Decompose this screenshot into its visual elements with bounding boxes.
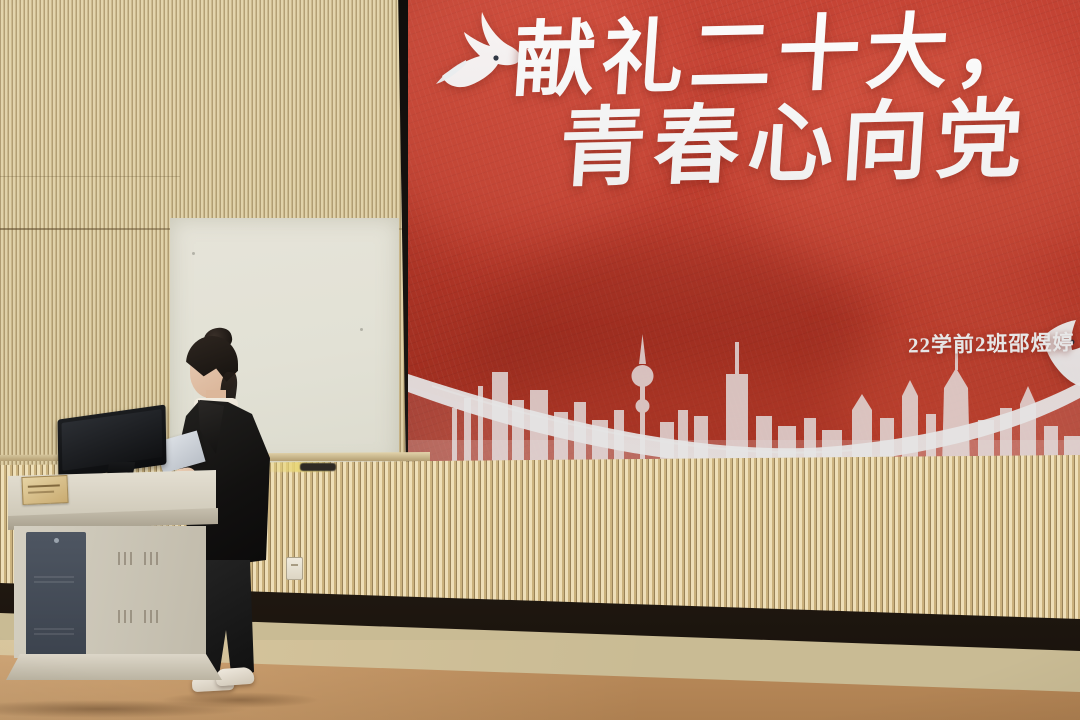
- status-led: [54, 538, 59, 543]
- white-swoosh-ribbon: [408, 290, 1080, 480]
- screen-byline: 22学前2班邵煜婷: [908, 327, 1075, 360]
- ledge-dark-object: [300, 463, 336, 471]
- lectern: [8, 470, 220, 702]
- photo-scene: 献礼二十大， 青春心向党 22学前2班邵煜婷: [0, 0, 1080, 720]
- led-screen: 献礼二十大， 青春心向党 22学前2班邵煜婷: [408, 0, 1080, 480]
- lectern-control-panel: [26, 532, 86, 656]
- wall-seam-secondary: [0, 176, 180, 177]
- podium-shadow: [0, 700, 250, 718]
- power-outlet-icon: [286, 557, 303, 580]
- lectern-nameplate: [21, 475, 68, 505]
- shoe: [215, 667, 254, 687]
- dove-icon: [422, 2, 526, 98]
- lectern-base: [6, 654, 222, 680]
